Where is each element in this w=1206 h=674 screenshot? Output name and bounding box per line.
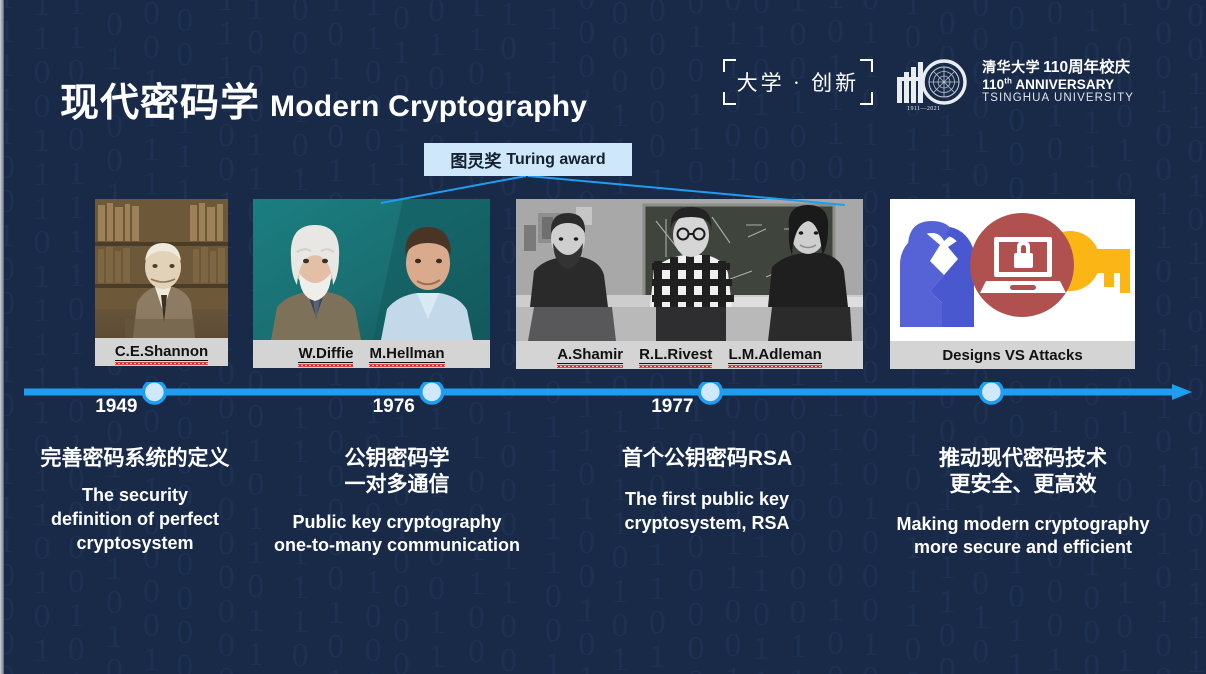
anniversary-celebration-cn: 110周年校庆 [1043, 59, 1130, 76]
column-body-en: Public key cryptography one-to-many comm… [258, 511, 536, 559]
column-body-en: The security definition of perfect crypt… [6, 484, 264, 555]
column-1: 完善密码系统的定义 The security definition of per… [6, 446, 264, 556]
person-name: M.Hellman [369, 345, 444, 363]
body-line: The security [6, 484, 264, 508]
person-name: W.Diffie [298, 345, 353, 363]
anniversary-text: 清华大学 110周年校庆 110th ANNIVERSARY TSINGHUA … [982, 59, 1134, 105]
photo-rsa [516, 199, 863, 341]
card-diffie-hellman[interactable]: W.Diffie M.Hellman [253, 199, 490, 368]
card-label: Designs VS Attacks [942, 347, 1082, 364]
person-name: A.Shamir [557, 346, 623, 364]
photo-shannon [95, 199, 228, 338]
photo-diffie-hellman [253, 199, 490, 340]
person-name: C.E.Shannon [115, 343, 208, 361]
page-title: 现代密码学Modern Cryptography [60, 72, 587, 128]
person-name: R.L.Rivest [639, 346, 712, 364]
timeline-year: 1949 [95, 396, 137, 418]
heading-line: 完善密码系统的定义 [6, 446, 264, 472]
column-4: 推动现代密码技术 更安全、更高效 Making modern cryptogra… [872, 446, 1174, 560]
heading-line: 一对多通信 [258, 472, 536, 498]
caption-rsa: A.Shamir R.L.Rivest L.M.Adleman [516, 341, 863, 369]
caption-diffie-hellman: W.Diffie M.Hellman [253, 340, 490, 368]
anniversary-ordinal: th [1004, 76, 1012, 85]
title-english: Modern Cryptography [270, 90, 587, 123]
turing-award-label-cn: 图灵奖 [450, 147, 501, 172]
turing-award-label-en: Turing award [506, 151, 605, 169]
column-heading-cn: 完善密码系统的定义 [6, 446, 264, 472]
caption-shannon: C.E.Shannon [95, 338, 228, 366]
anniversary-word: ANNIVERSARY [1015, 77, 1114, 92]
column-3: 首个公钥密码RSA The first public key cryptosys… [578, 446, 836, 536]
slogan-text: 大学 · 创新 [737, 71, 860, 95]
column-2: 公钥密码学 一对多通信 Public key cryptography one-… [258, 446, 536, 558]
timeline-node[interactable] [143, 382, 165, 403]
left-edge-strip [0, 0, 4, 674]
binary-column: 1 1 0 0 1 1 1 0 1 1 1 1 1 0 1 1 0 1 0 1 … [34, 0, 51, 674]
timeline-year: 1976 [373, 396, 415, 418]
anniversary-line-en: 110th ANNIVERSARY [982, 77, 1134, 92]
card-rsa[interactable]: A.Shamir R.L.Rivest L.M.Adleman [516, 199, 863, 369]
column-heading-cn: 公钥密码学 一对多通信 [258, 446, 536, 499]
turing-award-callout: 图灵奖 Turing award [424, 143, 632, 176]
bracket-top-left-icon [723, 59, 736, 72]
body-line: The first public key [578, 488, 836, 512]
timeline-year: 1977 [651, 396, 693, 418]
timeline-node[interactable] [980, 382, 1002, 403]
anniversary-number: 110 [982, 77, 1004, 92]
caption-designs-vs-attacks: Designs VS Attacks [890, 341, 1135, 369]
title-chinese: 现代密码学 [60, 82, 260, 125]
graphic-designs-vs-attacks [890, 199, 1135, 341]
binary-column: 0 0 1 1 0 1 0 1 1 0 1 0 0 1 0 0 1 1 1 1 … [1187, 0, 1204, 674]
body-line: definition of perfect [6, 508, 264, 532]
timeline [0, 382, 1206, 428]
card-shannon[interactable]: C.E.Shannon [95, 199, 228, 366]
timeline-node[interactable] [699, 382, 721, 403]
bracket-bottom-right-icon [860, 92, 873, 105]
bracket-top-right-icon [860, 59, 873, 72]
body-line: Making modern cryptography [872, 513, 1174, 537]
card-designs-vs-attacks[interactable]: Designs VS Attacks [890, 199, 1135, 369]
anniversary-university-en: TSINGHUA UNIVERSITY [982, 92, 1134, 105]
timeline-node[interactable] [421, 382, 443, 403]
anniversary-years: 1911—2021 [907, 106, 940, 112]
slogan-logo: 大学 · 创新 [723, 59, 874, 105]
column-body-en: Making modern cryptography more secure a… [872, 513, 1174, 561]
heading-line: 推动现代密码技术 [872, 446, 1174, 472]
logo-area: 大学 · 创新 [723, 55, 1134, 109]
anniversary-line-cn: 清华大学 110周年校庆 [982, 59, 1134, 77]
column-body-en: The first public key cryptosystem, RSA [578, 488, 836, 536]
body-line: more secure and efficient [872, 536, 1174, 560]
heading-line: 公钥密码学 [258, 446, 536, 472]
person-name: L.M.Adleman [728, 346, 821, 364]
bracket-bottom-left-icon [723, 92, 736, 105]
heading-line: 首个公钥密码RSA [578, 446, 836, 472]
anniversary-university-cn: 清华大学 [982, 61, 1040, 77]
binary-column: 0 0 0 1 0 0 1 1 0 0 1 0 1 0 1 0 1 0 1 0 … [1155, 0, 1172, 674]
anniversary-logo: 1911—2021 清华大学 110周年校庆 110th ANNIVERSARY… [895, 55, 1134, 109]
column-heading-cn: 首个公钥密码RSA [578, 446, 836, 472]
column-heading-cn: 推动现代密码技术 更安全、更高效 [872, 446, 1174, 499]
body-line: Public key cryptography [258, 511, 536, 535]
body-line: one-to-many communication [258, 534, 536, 558]
slide-canvas: 1 1 1 1 1 0 0 1 0 0 1 1 0 1 1 1 1 0 0 0 … [0, 0, 1206, 674]
body-line: cryptosystem, RSA [578, 512, 836, 536]
body-line: cryptosystem [6, 532, 264, 556]
anniversary-mark-icon: 1911—2021 [895, 55, 973, 109]
heading-line: 更安全、更高效 [872, 472, 1174, 498]
